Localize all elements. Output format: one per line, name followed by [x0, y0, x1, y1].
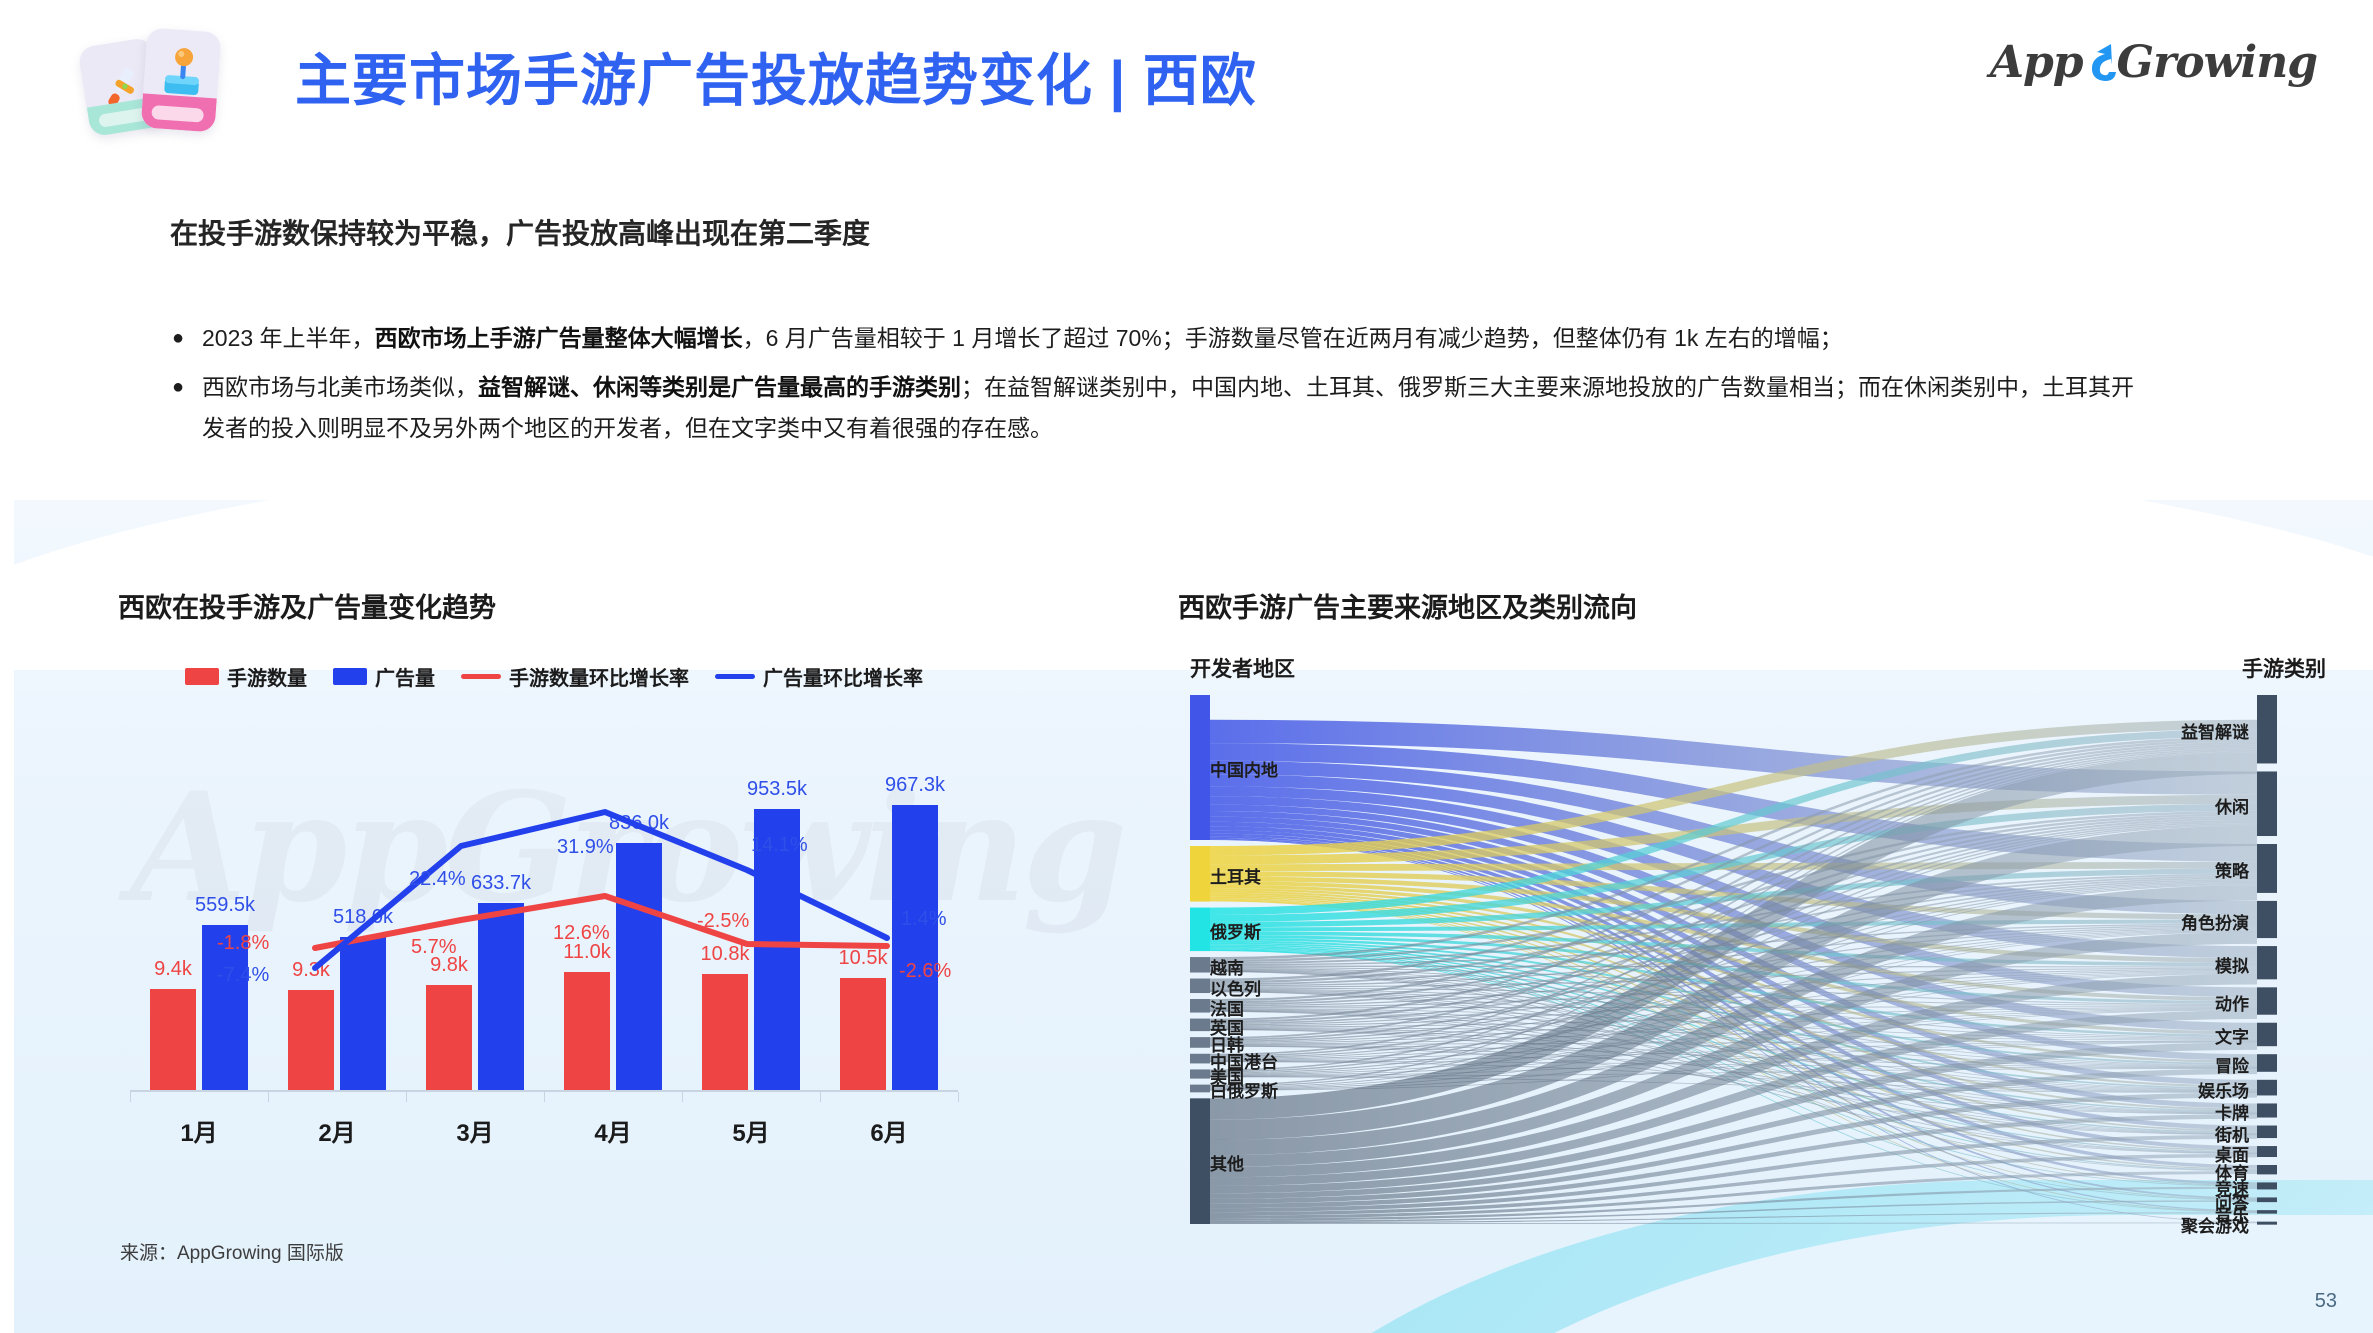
x-tick	[958, 1092, 959, 1102]
joystick-icon	[159, 45, 207, 100]
bar-blue: 967.3k	[892, 805, 938, 1090]
line-value-label: 22.4%	[409, 868, 466, 891]
sankey-target-node[interactable]	[2257, 987, 2277, 1014]
list-item: ● 2023 年上半年，西欧市场上手游广告量整体大幅增长，6 月广告量相较于 1…	[172, 318, 2152, 359]
sankey-source-node[interactable]	[1190, 1019, 1210, 1032]
sankey-target-node[interactable]	[2257, 1197, 2277, 1202]
x-axis-label: 6月	[820, 1113, 958, 1148]
legend-swatch	[333, 668, 367, 685]
sankey-source-node[interactable]	[1190, 1098, 1210, 1224]
line-value-label: 1.4%	[901, 908, 947, 931]
line-value-label: -1.8%	[217, 932, 269, 955]
sankey-target-node[interactable]	[2257, 1210, 2277, 1214]
bar-value-label: 967.3k	[885, 774, 945, 797]
legend-item-3: 广告量环比增长率	[715, 662, 923, 691]
legend-swatch	[461, 674, 501, 679]
page-number: 53	[2315, 1290, 2337, 1313]
sankey-source-node[interactable]	[1190, 979, 1210, 993]
x-axis-labels: 1月2月3月4月5月6月	[130, 1113, 958, 1148]
x-axis-label: 5月	[682, 1113, 820, 1148]
legend-item-2: 手游数量环比增长率	[461, 662, 689, 691]
x-tick	[406, 1092, 407, 1102]
sankey-target-node[interactable]	[2257, 1126, 2277, 1139]
legend-item-0: 手游数量	[185, 662, 307, 691]
bar-red: 10.5k	[840, 978, 886, 1091]
line-value-label: 31.9%	[557, 836, 614, 859]
bar-series-container: 9.4k559.5k9.3k518.0k9.8k633.7k11.0k836.0…	[130, 760, 958, 1090]
bar-red: 9.3k	[288, 990, 334, 1090]
bar-value-label: 9.4k	[154, 958, 192, 981]
sankey-target-axis-label: 手游类别	[2242, 653, 2326, 683]
sankey-target-node[interactable]	[2257, 1165, 2277, 1174]
sankey-target-node[interactable]	[2257, 1023, 2277, 1046]
legend-label: 手游数量环比增长率	[509, 662, 689, 691]
sankey-source-node[interactable]	[1190, 999, 1210, 1013]
section-subtitle: 在投手游数保持较为平稳，广告投放高峰出现在第二季度	[170, 212, 870, 252]
sankey-target-node[interactable]	[2257, 695, 2277, 763]
logo-app-text: App	[1990, 37, 2083, 88]
list-item: ● 西欧市场与北美市场类似，益智解谜、休闲等类别是广告量最高的手游类别；在益智解…	[172, 367, 2152, 449]
sankey-target-node[interactable]	[2257, 771, 2277, 836]
logo-growing-text: Growing	[2117, 37, 2317, 88]
line-value-label: -2.6%	[899, 960, 951, 983]
line-value-label: 5.7%	[411, 936, 457, 959]
game-cards-icon	[82, 22, 232, 132]
bullet-text-2: 西欧市场与北美市场类似，益智解谜、休闲等类别是广告量最高的手游类别；在益智解谜类…	[202, 367, 2152, 449]
line-value-label: -7.4%	[217, 964, 269, 987]
bullet-list: ● 2023 年上半年，西欧市场上手游广告量整体大幅增长，6 月广告量相较于 1…	[172, 318, 2152, 457]
sankey-target-node[interactable]	[2257, 1146, 2277, 1157]
sankey-source-node[interactable]	[1190, 957, 1210, 972]
sankey-target-node[interactable]	[2257, 946, 2277, 979]
bar-blue: 518.0k	[340, 937, 386, 1090]
arrow-g-icon	[2085, 40, 2119, 84]
bar-blue: 633.7k	[478, 903, 524, 1090]
line-value-label: 14.1%	[751, 834, 808, 857]
bar-value-label: 559.5k	[195, 894, 255, 917]
sankey-svg	[1172, 687, 2332, 1232]
page-title: 主要市场手游广告投放趋势变化 | 西欧	[295, 36, 1257, 117]
bar-value-label: 518.0k	[333, 906, 393, 929]
bar-group: 9.4k559.5k	[130, 760, 268, 1090]
bar-red: 9.8k	[426, 985, 472, 1090]
bar-group: 9.3k518.0k	[268, 760, 406, 1090]
line-value-label: -2.5%	[697, 910, 749, 933]
legend-label: 手游数量	[227, 662, 307, 691]
x-tick	[682, 1092, 683, 1102]
sankey-source-node[interactable]	[1190, 1085, 1210, 1093]
sankey-source-node[interactable]	[1190, 908, 1210, 951]
left-chart-title: 西欧在投手游及广告量变化趋势	[118, 586, 496, 625]
legend-item-1: 广告量	[333, 662, 435, 691]
bar-value-label: 10.5k	[839, 947, 888, 970]
sankey-target-node[interactable]	[2257, 1103, 2277, 1117]
sankey-source-node[interactable]	[1190, 846, 1210, 902]
bar-value-label: 633.7k	[471, 872, 531, 895]
legend-swatch	[715, 674, 755, 679]
bar-group: 9.8k633.7k	[406, 760, 544, 1090]
chart-legend: 手游数量广告量手游数量环比增长率广告量环比增长率	[185, 662, 923, 691]
right-chart-title: 西欧手游广告主要来源地区及类别流向	[1178, 586, 1637, 625]
sankey-target-node[interactable]	[2257, 1222, 2277, 1225]
sankey-link	[1210, 1223, 2257, 1224]
page-left-edge	[0, 0, 14, 1333]
background-curve-top	[0, 430, 2373, 670]
source-note: 来源：AppGrowing 国际版	[120, 1238, 344, 1265]
sankey-chart: 开发者地区 手游类别 中国内地土耳其俄罗斯越南以色列法国英国日韩中国港台美国白俄…	[1172, 645, 2332, 1245]
x-axis-label: 3月	[406, 1113, 544, 1148]
bar-value-label: 953.5k	[747, 778, 807, 801]
x-axis-label: 2月	[268, 1113, 406, 1148]
bullet-marker: ●	[172, 318, 202, 359]
bar-red: 10.8k	[702, 974, 748, 1090]
trend-chart: 手游数量广告量手游数量环比增长率广告量环比增长率 9.4k559.5k9.3k5…	[110, 650, 1050, 1230]
line-value-label: 12.6%	[553, 922, 610, 945]
bar-red: 9.4k	[150, 989, 196, 1090]
slide-page: 主要市场手游广告投放趋势变化 | 西欧 App Growing 在投手游数保持较…	[0, 0, 2373, 1333]
sankey-target-node[interactable]	[2257, 844, 2277, 893]
x-axis-label: 4月	[544, 1113, 682, 1148]
card-right-icon	[141, 28, 222, 133]
bullet-text-1: 2023 年上半年，西欧市场上手游广告量整体大幅增长，6 月广告量相较于 1 月…	[202, 318, 1843, 359]
bar-value-label: 9.3k	[292, 959, 330, 982]
x-tick	[544, 1092, 545, 1102]
legend-label: 广告量	[375, 662, 435, 691]
sankey-target-node[interactable]	[2257, 1054, 2277, 1072]
chart-plot-area: 9.4k559.5k9.3k518.0k9.8k633.7k11.0k836.0…	[110, 720, 1050, 1160]
page-header: 主要市场手游广告投放趋势变化 | 西欧 App Growing	[0, 0, 2373, 150]
sankey-source-node[interactable]	[1190, 1037, 1210, 1048]
sankey-target-node[interactable]	[2257, 901, 2277, 938]
x-axis-label: 1月	[130, 1113, 268, 1148]
bar-blue: 836.0k	[616, 843, 662, 1090]
x-tick	[820, 1092, 821, 1102]
sankey-source-node[interactable]	[1190, 1054, 1210, 1064]
legend-label: 广告量环比增长率	[763, 662, 923, 691]
bar-value-label: 836.0k	[609, 812, 669, 835]
x-tick	[130, 1092, 131, 1102]
sankey-source-axis-label: 开发者地区	[1190, 653, 1295, 683]
appgrowing-logo: App Growing	[1990, 36, 2317, 88]
bar-value-label: 10.8k	[701, 943, 750, 966]
bullet-marker: ●	[172, 367, 202, 449]
legend-swatch	[185, 668, 219, 685]
x-tick	[268, 1092, 269, 1102]
sankey-source-node[interactable]	[1190, 695, 1210, 840]
sankey-source-node[interactable]	[1190, 1069, 1210, 1078]
sankey-target-node[interactable]	[2257, 1080, 2277, 1096]
bar-red: 11.0k	[564, 972, 610, 1090]
sankey-target-node[interactable]	[2257, 1182, 2277, 1189]
